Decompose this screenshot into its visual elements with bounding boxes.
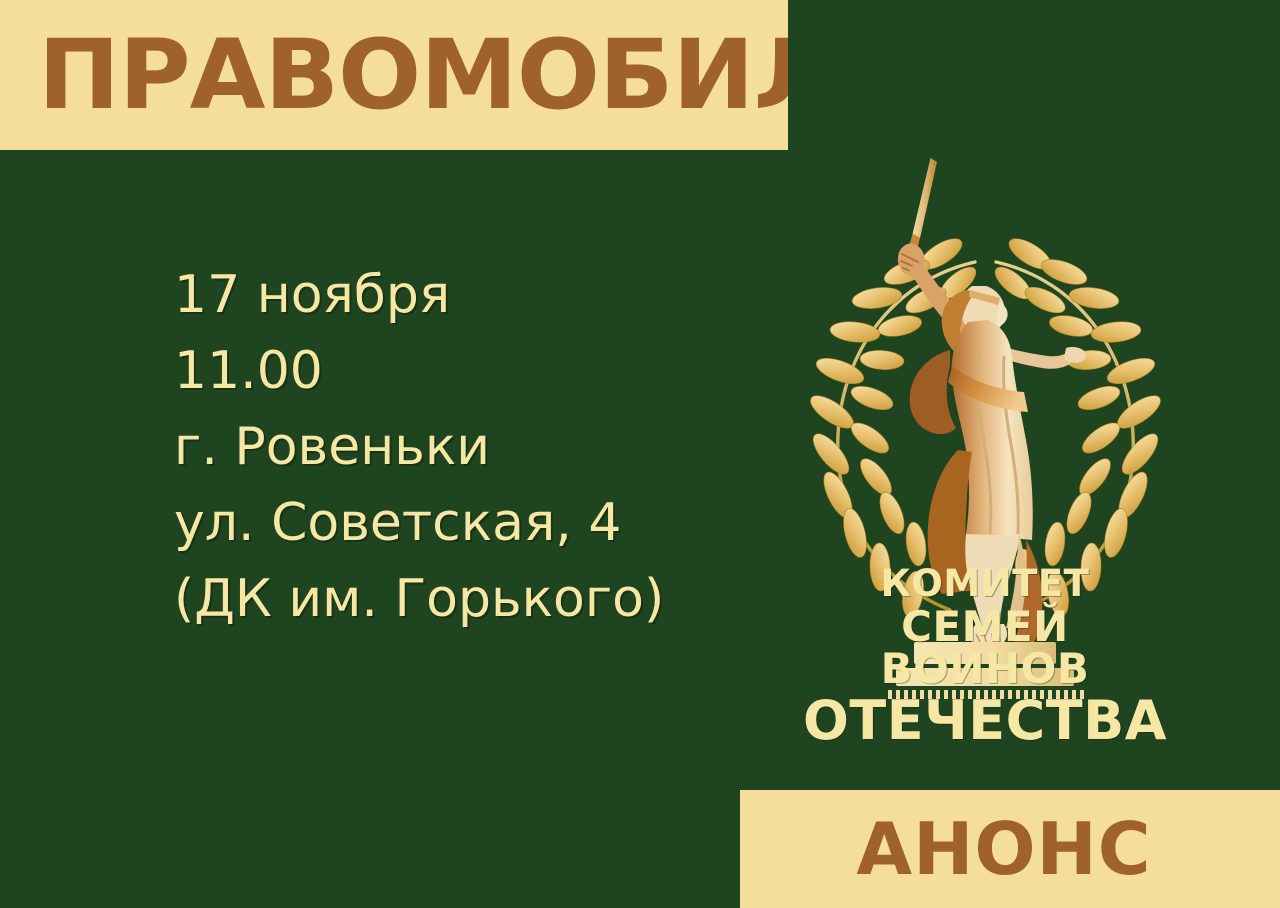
detail-line-time: 11.00 [174, 334, 714, 410]
page-title: ПРАВОМОБИЛЬ [38, 27, 788, 123]
emblem-caption-line-3: ОТЕЧЕСТВА [800, 694, 1170, 748]
emblem-caption: КОМИТЕТ СЕМЕЙ ВОИНОВ ОТЕЧЕСТВА [800, 565, 1170, 748]
detail-line-street: ул. Советская, 4 [174, 486, 714, 562]
announce-label: АНОНС [856, 813, 1151, 885]
title-banner: ПРАВОМОБИЛЬ [0, 0, 788, 150]
detail-line-venue: (ДК им. Горького) [174, 562, 714, 638]
poster-canvas: ПРАВОМОБИЛЬ 17 ноября 11.00 г. Ровеньки … [0, 0, 1280, 908]
announce-banner: АНОНС [740, 790, 1280, 908]
emblem-caption-line-2: СЕМЕЙ ВОИНОВ [800, 606, 1170, 690]
event-details: 17 ноября 11.00 г. Ровеньки ул. Советска… [174, 258, 714, 638]
detail-line-city: г. Ровеньки [174, 410, 714, 486]
emblem-caption-line-1: КОМИТЕТ [800, 565, 1170, 602]
detail-line-date: 17 ноября [174, 258, 714, 334]
